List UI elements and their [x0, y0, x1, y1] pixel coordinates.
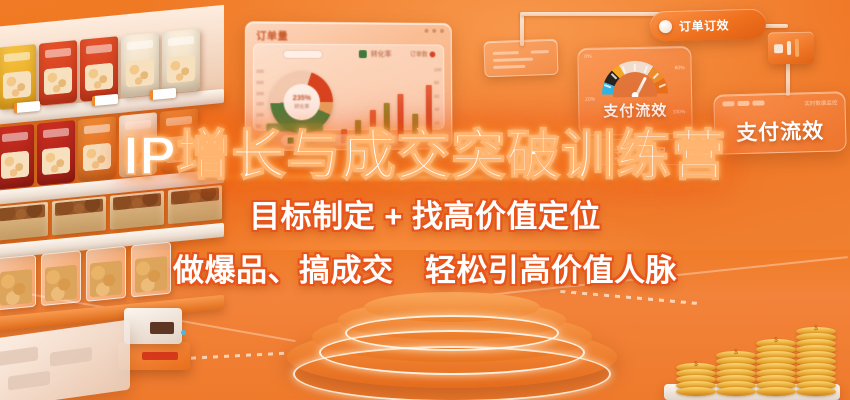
promo-banner: 订单量 转化率 订单数 300 250 200 150 100 50 0	[0, 0, 850, 400]
window-controls[interactable]	[425, 29, 444, 33]
panel-bar-icon	[722, 101, 734, 106]
gauge-label: 支付流效	[579, 99, 691, 122]
gauge-dial	[601, 60, 668, 97]
legend-swatch-secondary	[430, 51, 436, 57]
connector-pipe	[520, 12, 660, 16]
plaque-line	[493, 51, 519, 55]
y-tick-right: 80	[434, 80, 441, 85]
coin-stack	[796, 330, 836, 396]
y-tick: 300	[256, 69, 264, 74]
y-tick-right: 100	[434, 67, 441, 72]
widget-bar-icon	[795, 39, 799, 57]
coin	[676, 387, 716, 396]
legend-label-primary: 转化率	[371, 49, 392, 59]
widget-bar-icon	[787, 41, 791, 55]
order-efficiency-tag[interactable]: 订单订效	[650, 8, 767, 41]
pos-screen	[150, 322, 174, 334]
pos-body	[124, 308, 182, 344]
donut-center-sub: 转化率	[270, 103, 333, 110]
coin	[756, 387, 796, 396]
panel-bar-icon	[737, 101, 749, 106]
panel-mini-bars	[722, 100, 764, 106]
panel-bar-icon	[752, 100, 764, 105]
panel-corner-label: 实时数据监控	[804, 98, 837, 107]
circular-podium	[282, 290, 622, 400]
subtitle-line-2: 做爆品、搞成交 轻松引高价值人脉	[0, 245, 850, 290]
maximize-icon[interactable]	[432, 29, 436, 33]
pos-indicator-icon	[181, 330, 186, 335]
y-tick-right: 40	[434, 107, 441, 112]
widget-square-icon	[774, 44, 783, 53]
coin	[716, 387, 756, 396]
coin	[796, 387, 836, 396]
payment-flow-gauge-card: 0% 60% 20% 100% 支付流效	[577, 46, 693, 136]
pos-card-slot	[142, 352, 178, 360]
subtitle-line-1: 目标制定 + 找高价值定位	[0, 191, 850, 236]
plaque-line	[493, 58, 533, 62]
slab-block	[8, 371, 50, 391]
slab-block	[0, 346, 38, 366]
minimize-icon[interactable]	[425, 29, 429, 33]
slab-block	[50, 347, 92, 367]
dashboard-title: 订单量	[256, 27, 288, 42]
y-tick: 250	[256, 80, 264, 85]
status-dot-icon	[659, 19, 672, 32]
product-bag	[0, 44, 36, 110]
legend-label-secondary: 订单数	[410, 49, 428, 58]
plaque-line	[531, 50, 549, 54]
mini-widget-device	[768, 32, 815, 65]
coin-stack	[756, 342, 796, 396]
y-tick-right: 20	[434, 120, 441, 125]
product-bag	[121, 32, 159, 98]
plaque-line	[493, 65, 525, 69]
page-title: IP增长与成交突破训练营	[0, 128, 850, 184]
y-tick: 200	[256, 91, 264, 96]
coin-stack	[676, 366, 716, 396]
filter-chip[interactable]	[283, 50, 323, 59]
coin-stack	[716, 354, 756, 396]
gauge-corner-tr: 60%	[675, 65, 685, 71]
product-bag	[80, 36, 118, 102]
y-tick: 100	[256, 113, 264, 118]
close-icon[interactable]	[440, 29, 444, 33]
headline-block: IP增长与成交突破训练营 目标制定 + 找高价值定位 做爆品、搞成交 轻松引高价…	[0, 128, 850, 290]
product-bag	[39, 40, 77, 106]
dashboard-header: 订单量	[246, 22, 451, 43]
y-tick: 150	[256, 102, 264, 107]
gauge-corner-tl: 0%	[584, 54, 591, 60]
product-bag	[162, 28, 200, 94]
dashboard-body: 转化率 订单数 300 250 200 150 100 50 0 235% 转化…	[253, 43, 445, 130]
donut-center-value: 235%	[270, 95, 333, 102]
y-tick-right: 60	[434, 94, 441, 99]
tag-label: 订单订效	[679, 16, 729, 34]
gauge-hub	[632, 92, 639, 98]
podium-glow-ring	[345, 315, 559, 351]
connector-pipe	[786, 60, 790, 96]
connector-pipe	[520, 12, 524, 46]
coin-stacks	[670, 300, 850, 400]
legend-swatch-primary	[359, 50, 367, 58]
